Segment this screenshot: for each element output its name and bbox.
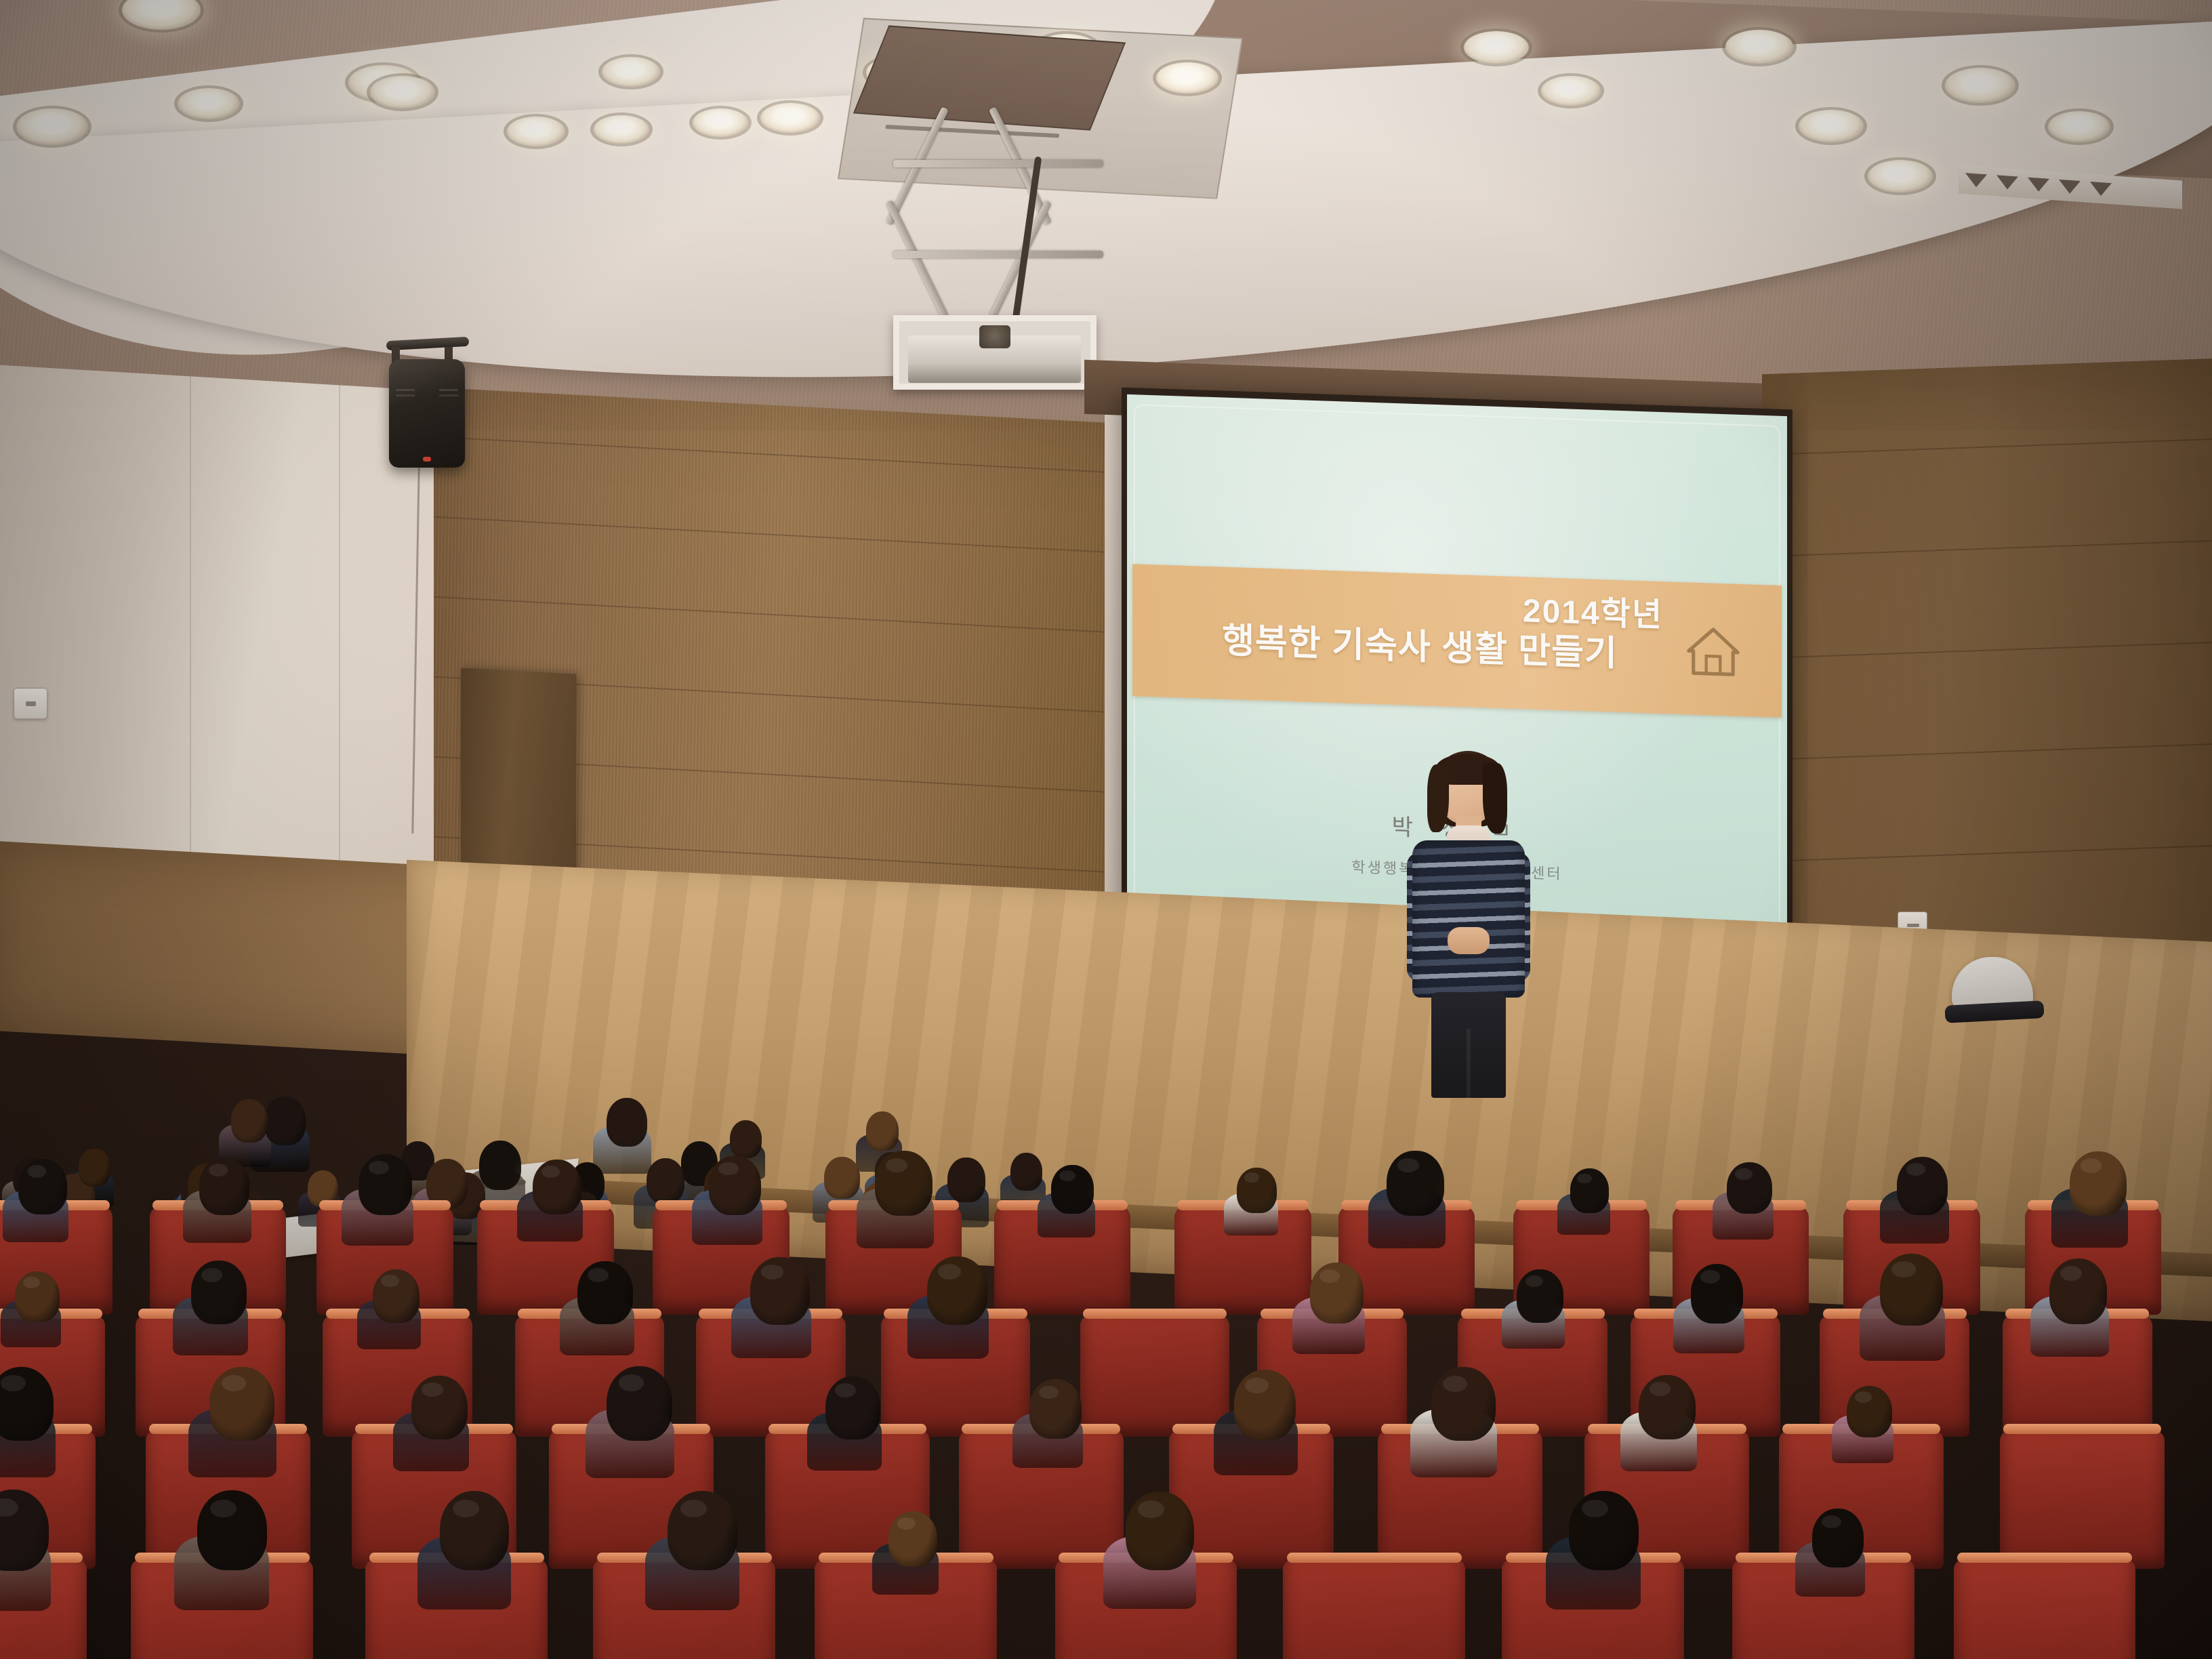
auditorium-seat — [1954, 1559, 2136, 1659]
hair-highlight — [210, 1500, 237, 1517]
hair-highlight — [201, 1268, 222, 1282]
hair-highlight — [2060, 1266, 2082, 1281]
hair-highlight — [2081, 1158, 2102, 1172]
recessed-ceiling-downlight — [1725, 30, 1793, 64]
hair-highlight — [1822, 1515, 1841, 1528]
hair-highlight — [209, 1164, 228, 1176]
hair-highlight — [1138, 1500, 1164, 1518]
hair-highlight — [619, 1374, 644, 1391]
audience-member-head — [479, 1141, 521, 1191]
slide-title-band: 2014학년 행복한 기숙사 생활 만들기 — [1132, 564, 1782, 718]
hair-highlight — [938, 1264, 961, 1279]
hair-highlight — [1700, 1270, 1721, 1284]
speaker-power-led — [423, 457, 431, 462]
seated-audience — [0, 867, 2212, 1659]
hair-highlight — [588, 1268, 609, 1282]
recessed-ceiling-downlight — [1799, 110, 1864, 142]
scissor-crossbar — [893, 251, 1103, 258]
hair-highlight — [1891, 1261, 1915, 1277]
recessed-ceiling-downlight — [594, 115, 649, 144]
hair-highlight — [680, 1500, 707, 1517]
audience-member-head — [730, 1120, 762, 1158]
hair-highlight — [1059, 1170, 1076, 1181]
hair-highlight — [886, 1158, 907, 1172]
auditorium-photo-scene: 2014학년 행복한 기숙사 생활 만들기 박 정 ㅁ 학생행복지원단 학생상담… — [0, 0, 2212, 1659]
recessed-ceiling-downlight — [1541, 76, 1601, 106]
hair-highlight — [1582, 1500, 1608, 1517]
hair-highlight — [222, 1375, 247, 1391]
recessed-ceiling-downlight — [507, 117, 565, 146]
auditorium-seat — [1080, 1315, 1230, 1437]
house-icon — [1684, 621, 1742, 682]
hair-highlight — [1245, 1378, 1269, 1393]
recessed-ceiling-downlight — [1868, 160, 1933, 192]
hair-highlight — [422, 1382, 443, 1397]
wall-control-plate — [14, 688, 47, 719]
recessed-ceiling-downlight — [602, 57, 660, 87]
audience-member-head — [824, 1157, 860, 1200]
hair-highlight — [381, 1275, 398, 1287]
scissor-arm — [886, 200, 949, 319]
recessed-ceiling-downlight — [178, 88, 240, 119]
recessed-ceiling-downlight — [2048, 111, 2110, 142]
recessed-ceiling-downlight — [1945, 68, 2015, 103]
projector-lens — [979, 325, 1010, 348]
audience-member-head — [264, 1097, 306, 1145]
hair-highlight — [453, 1500, 479, 1517]
audience-member-head — [607, 1098, 647, 1147]
auditorium-seat — [2000, 1430, 2165, 1569]
audience-member-head — [231, 1099, 268, 1143]
audience-member-head — [947, 1158, 985, 1202]
recessed-ceiling-downlight — [370, 76, 435, 108]
audience-member-head — [647, 1158, 684, 1204]
hair-highlight — [23, 1277, 40, 1288]
audience-member-head — [79, 1149, 110, 1187]
hair-highlight — [1577, 1174, 1592, 1184]
scissor-crossbar — [893, 160, 1103, 167]
hair-highlight — [1735, 1168, 1752, 1180]
hair-highlight — [835, 1383, 856, 1397]
audience-member-head — [1010, 1153, 1042, 1191]
presenter-hair-left — [1427, 764, 1449, 832]
hair-highlight — [1443, 1376, 1467, 1392]
projector-ceiling-plate — [853, 25, 1126, 130]
audience-member-head — [866, 1111, 899, 1150]
pa-speaker-cabinet — [389, 359, 465, 468]
hair-highlight — [718, 1162, 738, 1176]
hair-highlight — [28, 1165, 46, 1177]
recessed-ceiling-downlight — [16, 108, 88, 145]
recessed-ceiling-downlight — [1464, 31, 1529, 64]
recessed-ceiling-downlight — [693, 108, 748, 137]
auditorium-seat — [1283, 1559, 1465, 1659]
hair-highlight — [541, 1166, 560, 1178]
hair-highlight — [369, 1161, 389, 1174]
presenter-hair-right — [1483, 763, 1507, 834]
recessed-ceiling-downlight — [760, 103, 820, 133]
pa-speaker-assembly — [380, 339, 474, 474]
hair-highlight — [1397, 1158, 1419, 1172]
